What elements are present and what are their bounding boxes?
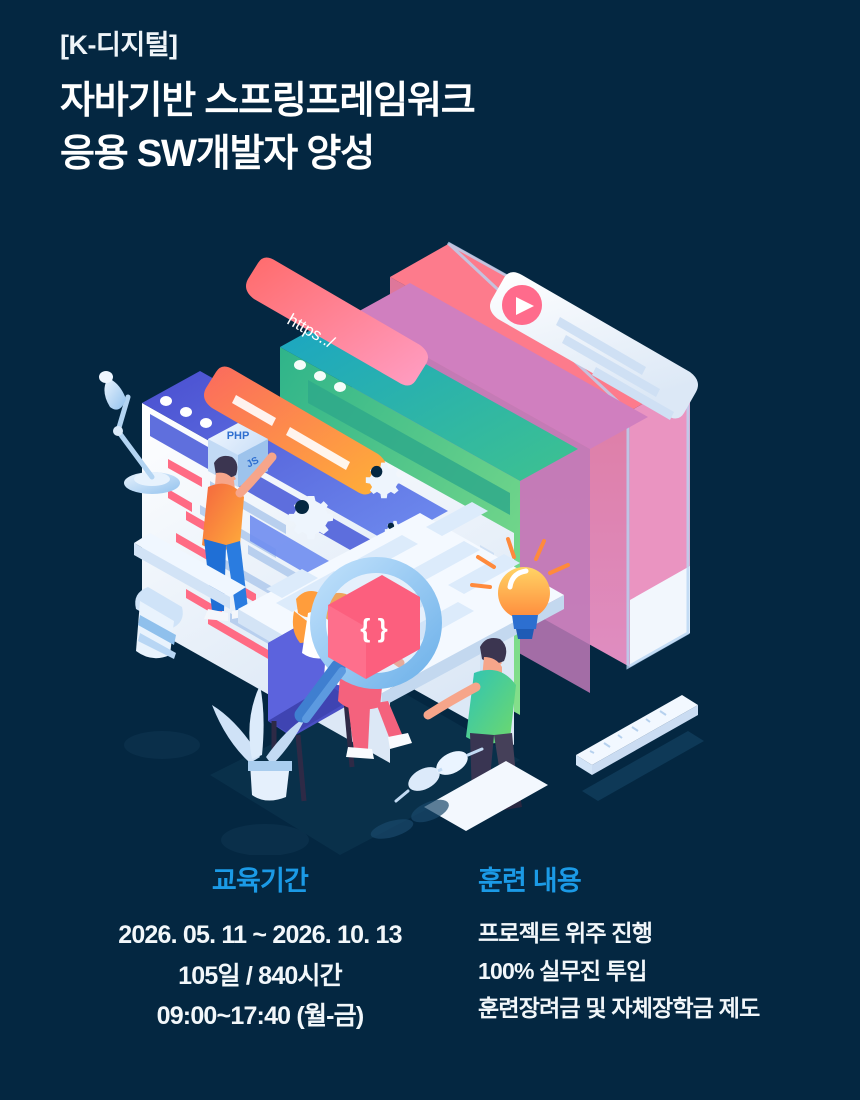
content-line-1: 프로젝트 위주 진행 [470,915,860,952]
title-line-1: 자바기반 스프링프레임워크 [60,75,820,127]
period-heading: 교육기간 [60,865,460,897]
illustration-svg: https../ [90,215,790,855]
content-heading: 훈련 내용 [470,865,860,897]
poster-root: [K-디지털] 자바기반 스프링프레임워크 응용 SW개발자 양성 [0,0,860,1100]
title-line-2: 응용 SW개발자 양성 [60,128,820,180]
content-line-2: 100% 실무진 투입 [470,953,860,990]
page-title: 자바기반 스프링프레임워크 응용 SW개발자 양성 [60,75,820,180]
poster-footer: 교육기간 2026. 05. 11 ~ 2026. 10. 13 105일 / … [0,865,860,1065]
program-kicker: [K-디지털] [60,28,820,63]
content-line-3: 훈련장려금 및 자체장학금 제도 [470,990,860,1027]
period-line-3: 09:00~17:40 (월-금) [60,996,460,1037]
poster-header: [K-디지털] 자바기반 스프링프레임워크 응용 SW개발자 양성 [60,28,820,180]
period-column: 교육기간 2026. 05. 11 ~ 2026. 10. 13 105일 / … [60,865,460,1037]
content-column: 훈련 내용 프로젝트 위주 진행 100% 실무진 투입 훈련장려금 및 자체장… [470,865,860,1027]
hero-illustration: https../ [90,215,790,855]
code-badge-text: { } [360,613,387,643]
period-line-1: 2026. 05. 11 ~ 2026. 10. 13 [60,915,460,956]
cube-face-top: PHP [227,430,250,442]
ruler [576,695,704,801]
period-line-2: 105일 / 840시간 [60,956,460,997]
